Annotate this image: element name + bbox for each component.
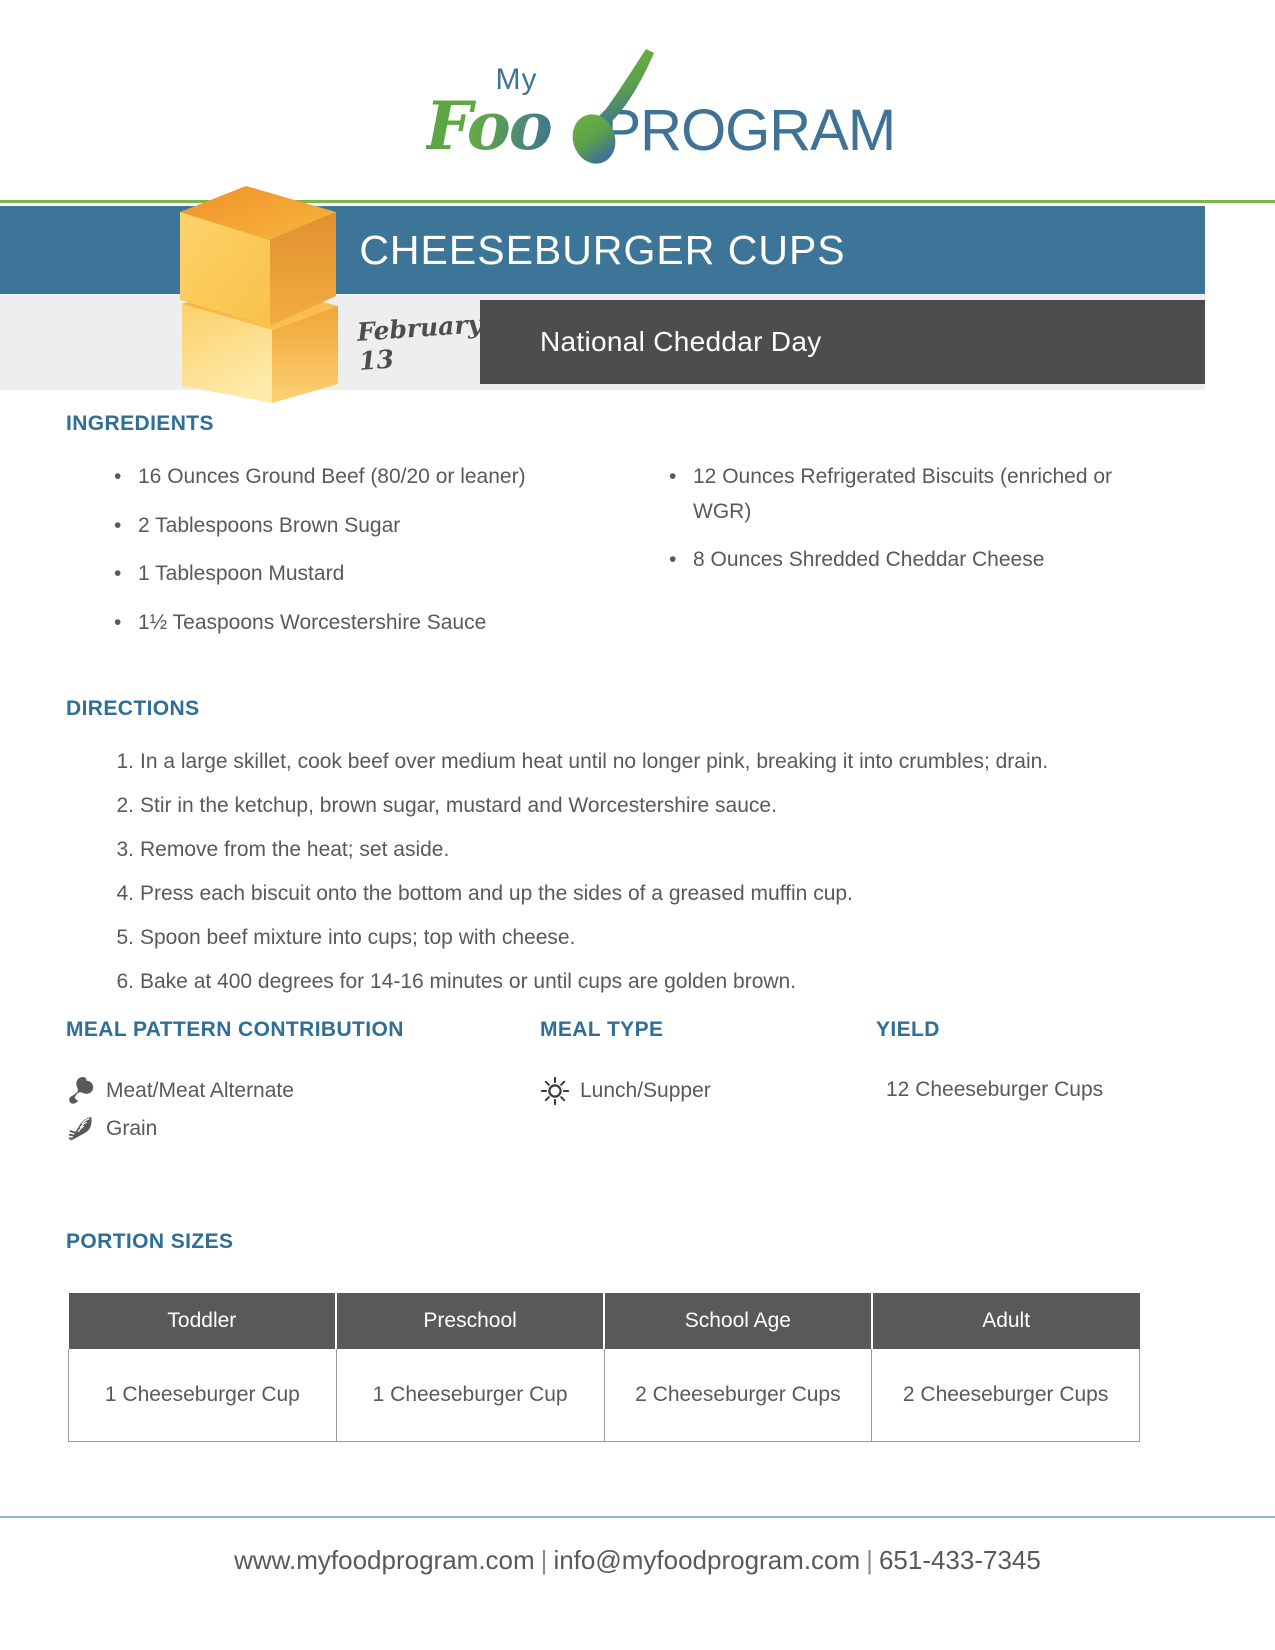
brand-logo: My Foo PROGRAM <box>0 42 1275 172</box>
meal-type-item: Lunch/Supper <box>540 1076 870 1106</box>
ingredients-column-left: 16 Ounces Ground Beef (80/20 or leaner) … <box>66 460 621 655</box>
list-item: 12 Ounces Refrigerated Biscuits (enriche… <box>621 460 1176 529</box>
cheese-cubes-icon <box>172 178 342 403</box>
column-header-school-age: School Age <box>604 1293 872 1349</box>
step-text: In a large skillet, cook beef over mediu… <box>140 750 1048 773</box>
meal-type-section: MEAL TYPE Lunch/Supper <box>540 1018 870 1106</box>
portion-cell-preschool: 1 Cheeseburger Cup <box>336 1349 604 1442</box>
grain-wheat-icon <box>66 1114 96 1144</box>
yield-section: YIELD 12 Cheeseburger Cups <box>876 1018 1176 1102</box>
observance-date: February 13 <box>355 295 501 389</box>
footer-divider <box>0 1516 1275 1518</box>
yield-heading: YIELD <box>876 1018 1176 1042</box>
meal-pattern-label: Grain <box>106 1117 157 1141</box>
step-text: Remove from the heat; set aside. <box>140 838 449 861</box>
list-item: 5.Spoon beef mixture into cups; top with… <box>66 921 1176 955</box>
footer-phone[interactable]: 651-433-7345 <box>879 1545 1041 1575</box>
step-text: Stir in the ketchup, brown sugar, mustar… <box>140 794 777 817</box>
table-row: 1 Cheeseburger Cup 1 Cheeseburger Cup 2 … <box>69 1349 1140 1442</box>
portion-sizes-heading: PORTION SIZES <box>66 1230 233 1254</box>
table-header-row: Toddler Preschool School Age Adult <box>69 1293 1140 1349</box>
portion-cell-toddler: 1 Cheeseburger Cup <box>69 1349 337 1442</box>
step-number: 5. <box>106 921 134 955</box>
meal-pattern-label: Meat/Meat Alternate <box>106 1079 294 1103</box>
step-text: Spoon beef mixture into cups; top with c… <box>140 926 575 949</box>
list-item: 6.Bake at 400 degrees for 14-16 minutes … <box>66 965 1176 999</box>
step-text: Bake at 400 degrees for 14-16 minutes or… <box>140 970 796 993</box>
footer: www.myfoodprogram.com|info@myfoodprogram… <box>0 1545 1275 1576</box>
ingredients-heading: INGREDIENTS <box>66 412 214 436</box>
footer-separator-1: | <box>535 1545 554 1575</box>
step-number: 3. <box>106 833 134 867</box>
ingredients-columns: 16 Ounces Ground Beef (80/20 or leaner) … <box>66 460 1176 655</box>
list-item: 2 Tablespoons Brown Sugar <box>66 509 621 544</box>
column-header-toddler: Toddler <box>69 1293 337 1349</box>
observance-name: National Cheddar Day <box>540 300 822 384</box>
portion-cell-school-age: 2 Cheeseburger Cups <box>604 1349 872 1442</box>
sun-icon <box>540 1076 570 1106</box>
portion-sizes-table: Toddler Preschool School Age Adult 1 Che… <box>68 1293 1140 1442</box>
meal-type-heading: MEAL TYPE <box>540 1018 870 1042</box>
meal-pattern-section: MEAL PATTERN CONTRIBUTION Meat/Meat Alte… <box>66 1018 536 1144</box>
column-header-adult: Adult <box>872 1293 1140 1349</box>
recipe-card-page: My Foo PROGRAM CHEESEBURGER CUPS Febr <box>0 0 1275 1650</box>
footer-email[interactable]: info@myfoodprogram.com <box>553 1545 860 1575</box>
list-item: 3.Remove from the heat; set aside. <box>66 833 1176 867</box>
footer-website[interactable]: www.myfoodprogram.com <box>234 1545 535 1575</box>
step-number: 4. <box>106 877 134 911</box>
list-item: 16 Ounces Ground Beef (80/20 or leaner) <box>66 460 621 495</box>
list-item: 2.Stir in the ketchup, brown sugar, must… <box>66 789 1176 823</box>
column-header-preschool: Preschool <box>336 1293 604 1349</box>
meal-pattern-item-grain: Grain <box>66 1114 536 1144</box>
ingredients-list-left: 16 Ounces Ground Beef (80/20 or leaner) … <box>66 460 621 641</box>
list-item: 1½ Teaspoons Worcestershire Sauce <box>66 606 621 641</box>
list-item: 4.Press each biscuit onto the bottom and… <box>66 877 1176 911</box>
spoon-icon <box>550 47 660 165</box>
directions-list: 1.In a large skillet, cook beef over med… <box>66 745 1176 1009</box>
meal-pattern-item-meat: Meat/Meat Alternate <box>66 1076 536 1106</box>
list-item: 8 Ounces Shredded Cheddar Cheese <box>621 543 1176 578</box>
portion-cell-adult: 2 Cheeseburger Cups <box>872 1349 1140 1442</box>
list-item: 1.In a large skillet, cook beef over med… <box>66 745 1176 779</box>
ingredients-list-right: 12 Ounces Refrigerated Biscuits (enriche… <box>621 460 1176 578</box>
directions-heading: DIRECTIONS <box>66 697 200 721</box>
footer-separator-2: | <box>860 1545 879 1575</box>
step-number: 1. <box>106 745 134 779</box>
step-number: 2. <box>106 789 134 823</box>
yield-value: 12 Cheeseburger Cups <box>876 1078 1176 1102</box>
logo-food-text: Foo <box>426 87 551 165</box>
step-number: 6. <box>106 965 134 999</box>
meat-drumstick-icon <box>66 1076 96 1106</box>
ingredients-column-right: 12 Ounces Refrigerated Biscuits (enriche… <box>621 460 1176 655</box>
meal-pattern-heading: MEAL PATTERN CONTRIBUTION <box>66 1018 536 1042</box>
step-text: Press each biscuit onto the bottom and u… <box>140 882 853 905</box>
list-item: 1 Tablespoon Mustard <box>66 557 621 592</box>
meal-type-label: Lunch/Supper <box>580 1079 711 1103</box>
